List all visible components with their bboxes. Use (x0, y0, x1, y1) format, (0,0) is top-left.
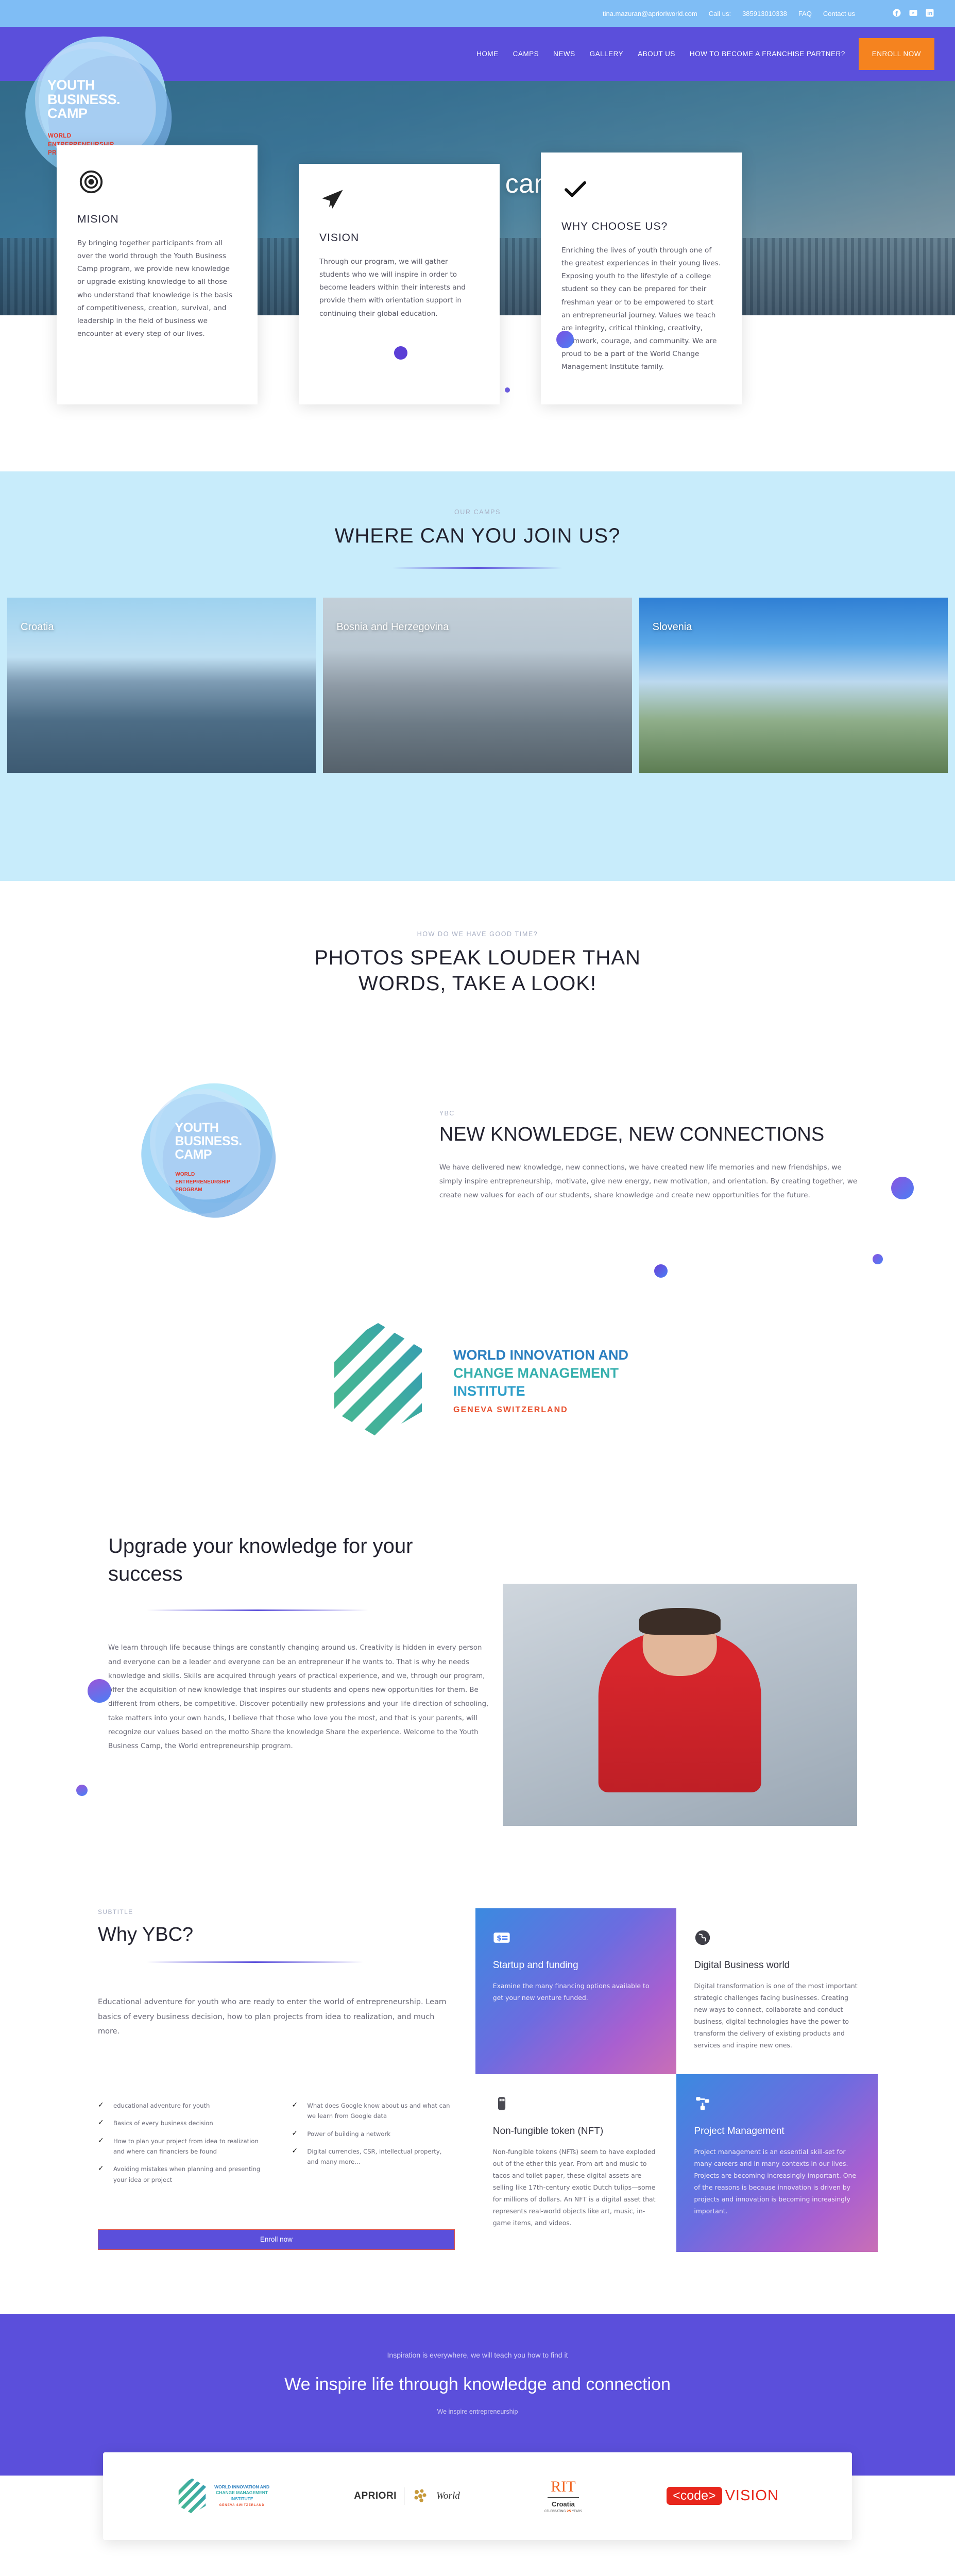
card-text: By bringing together participants from a… (77, 237, 237, 341)
feature-card-nft: Non-fungible token (NFT) Non-fungible to… (475, 2074, 677, 2252)
klogo-line-3: CAMP (175, 1148, 242, 1161)
partner-wicmi-line2: CHANGE MANAGEMENT (216, 2490, 268, 2495)
check-icon: ✓ (98, 2100, 105, 2111)
partner-logo-wicmi: WORLD INNOVATION AND CHANGE MANAGEMENT I… (176, 2478, 269, 2515)
list-item: ✓Basics of every business decision (98, 2118, 261, 2128)
nav-item-franchise[interactable]: HOW TO BECOME A FRANCHISE PARTNER? (690, 50, 845, 58)
check-text: What does Google know about us and what … (307, 2100, 454, 2122)
feature-text: Digital transformation is one of the mos… (694, 1980, 860, 2052)
section-new-knowledge: YOUTH BUSINESS. CAMP WORLD ENTREPRENEURS… (0, 1058, 955, 1290)
logo-line-2: BUSINESS. (47, 93, 120, 107)
enroll-now-button-secondary[interactable]: Enroll now (98, 2229, 455, 2250)
feature-text: Project management is an essential skill… (694, 2146, 860, 2217)
camp-label: Slovenia (653, 621, 692, 633)
svg-text:$: $ (497, 1935, 502, 1943)
knowledge-copy: YBC NEW KNOWLEDGE, NEW CONNECTIONS We ha… (439, 1110, 955, 1202)
partner-wicmi-line3: INSTITUTE (231, 2496, 253, 2501)
money-bill-icon: $ (493, 1929, 659, 1948)
knowledge-title: NEW KNOWLEDGE, NEW CONNECTIONS (439, 1122, 893, 1147)
feature-title: Project Management (694, 2126, 860, 2137)
facebook-icon[interactable] (892, 8, 901, 19)
klogo-sub-1: WORLD (175, 1171, 230, 1178)
institute-logo-icon (327, 1321, 430, 1439)
list-item: ✓Avoiding mistakes when planning and pre… (98, 2164, 261, 2185)
upgrade-text: We learn through life because things are… (108, 1641, 492, 1753)
feature-cards-grid: $ Startup and funding Examine the many f… (475, 1908, 878, 2251)
upgrade-copy: Upgrade your knowledge for your success … (108, 1532, 492, 1753)
decorative-dot-small (505, 387, 510, 393)
camps-grid: Croatia Bosnia and Herzegovina Slovenia (0, 569, 955, 773)
nav-links: HOME CAMPS NEWS GALLERY ABOUT US HOW TO … (476, 50, 845, 58)
klogo-sub-3: PROGRAM (175, 1186, 230, 1194)
nav-item-gallery[interactable]: GALLERY (590, 50, 624, 58)
target-icon (77, 168, 237, 198)
gallery-eyebrow: HOW DO WE HAVE GOOD TIME? (0, 930, 955, 938)
logo-line-1: YOUTH (47, 78, 120, 93)
check-text: educational adventure for youth (113, 2100, 210, 2111)
check-icon: ✓ (292, 2100, 299, 2122)
check-list-right: ✓What does Google know about us and what… (292, 2100, 454, 2192)
klogo-subtitle: WORLD ENTREPRENEURSHIP PROGRAM (175, 1171, 230, 1194)
camp-card-slovenia[interactable]: Slovenia (639, 598, 948, 773)
check-list-left: ✓educational adventure for youth ✓Basics… (98, 2100, 261, 2192)
knowledge-logo-wrap: YOUTH BUSINESS. CAMP WORLD ENTREPRENEURS… (0, 1079, 439, 1233)
camp-card-croatia[interactable]: Croatia (7, 598, 316, 773)
card-text: Through our program, we will gather stud… (319, 256, 479, 320)
decorative-dot-purple (394, 346, 407, 360)
section-inspire: Inspiration is everywhere, we will teach… (0, 2314, 955, 2540)
camps-title: WHERE CAN YOU JOIN US? (0, 523, 955, 549)
section-gallery-heading: HOW DO WE HAVE GOOD TIME? PHOTOS SPEAK L… (0, 881, 955, 1058)
feature-card-startup-funding: $ Startup and funding Examine the many f… (475, 1908, 677, 2074)
check-text: Avoiding mistakes when planning and pres… (113, 2164, 261, 2185)
card-title: WHY CHOOSE US? (561, 221, 721, 233)
paper-plane-icon (319, 187, 479, 216)
card-why-choose-us: WHY CHOOSE US? Enriching the lives of yo… (541, 152, 742, 404)
check-icon: ✓ (98, 2136, 105, 2157)
check-text: How to plan your project from idea to re… (113, 2136, 261, 2157)
partner-wicmi-geneva: GENEVA SWITZERLAND (219, 2504, 265, 2507)
check-text: Power of building a network (307, 2129, 390, 2139)
why-ybc-eyebrow: SUBTITLE (98, 1908, 455, 1916)
camp-label: Croatia (21, 621, 54, 633)
list-item: ✓What does Google know about us and what… (292, 2100, 454, 2122)
check-text: Digital currencies, CSR, intellectual pr… (307, 2146, 454, 2167)
divider-gradient (147, 1961, 363, 1963)
top-phone-link[interactable]: 385913010338 (742, 10, 787, 18)
value-cards-row: MISION By bringing together participants… (0, 145, 955, 404)
check-icon: ✓ (98, 2118, 105, 2128)
section-institute-logo: WORLD INNOVATION AND CHANGE MANAGEMENT I… (0, 1290, 955, 1496)
knowledge-text: We have delivered new knowledge, new con… (439, 1161, 862, 1203)
card-text: Enriching the lives of youth through one… (561, 244, 721, 374)
partner-logo-code-vision: <code> VISION (667, 2487, 779, 2505)
globe-icon (694, 1929, 860, 1948)
feature-text: Non-fungible tokens (NFTs) seem to have … (493, 2146, 659, 2229)
token-icon (493, 2095, 659, 2114)
nav-item-news[interactable]: NEWS (553, 50, 575, 58)
partner-logo-rit-croatia: RIT Croatia CELEBRATING 25 YEARS (544, 2479, 582, 2513)
top-utility-bar: tina.mazuran@aprioriworld.com Call us: 3… (0, 0, 955, 27)
site-footer: YOUTH BUSINESS. CAMP WORLD ENTREPRENEURS… (0, 2540, 955, 2576)
partner-logo-apriori: APRIORI World (354, 2487, 459, 2505)
inspire-tagline: Inspiration is everywhere, we will teach… (0, 2351, 955, 2359)
klogo-line-2: BUSINESS. (175, 1134, 242, 1148)
section-why-ybc: SUBTITLE Why YBC? Educational adventure … (0, 1893, 955, 2313)
check-text: Basics of every business decision (113, 2118, 213, 2128)
section-camps: OUR CAMPS WHERE CAN YOU JOIN US? Croatia… (0, 471, 955, 819)
linkedin-icon[interactable] (925, 8, 934, 19)
nav-item-about-us[interactable]: ABOUT US (638, 50, 675, 58)
institute-location: GENEVA SWITZERLAND (453, 1405, 628, 1415)
ybc-logo-mark: YOUTH BUSINESS. CAMP WORLD ENTREPRENEURS… (134, 1079, 304, 1233)
nav-item-camps[interactable]: CAMPS (513, 50, 539, 58)
logo-line-3: CAMP (47, 107, 120, 121)
check-icon (561, 175, 721, 205)
top-contact-link[interactable]: Contact us (823, 10, 855, 18)
klogo-wordmark: YOUTH BUSINESS. CAMP (175, 1121, 242, 1161)
card-vision: VISION Through our program, we will gath… (299, 164, 500, 404)
network-icon (694, 2095, 860, 2114)
gallery-title-line1: PHOTOS SPEAK LOUDER THAN (0, 945, 955, 971)
camps-eyebrow: OUR CAMPS (0, 509, 955, 516)
knowledge-eyebrow: YBC (439, 1110, 893, 1117)
upgrade-photo (503, 1584, 857, 1826)
decorative-dot-purple (654, 1264, 668, 1278)
check-icon: ✓ (292, 2146, 299, 2167)
top-faq-link[interactable]: FAQ (798, 10, 812, 18)
upgrade-title: Upgrade your knowledge for your success (108, 1532, 492, 1588)
list-item: ✓How to plan your project from idea to r… (98, 2136, 261, 2157)
gallery-title-line2: WORDS, TAKE A LOOK! (0, 971, 955, 996)
inspire-headline: We inspire life through knowledge and co… (0, 2375, 955, 2395)
feature-text: Examine the many financing options avail… (493, 1980, 659, 2004)
feature-card-project-management: Project Management Project management is… (676, 2074, 878, 2252)
why-ybc-check-lists: ✓educational adventure for youth ✓Basics… (98, 2100, 455, 2192)
klogo-sub-2: ENTREPRENEURSHIP (175, 1178, 230, 1186)
camp-label: Bosnia and Herzegovina (336, 621, 449, 633)
why-ybc-title: Why YBC? (98, 1924, 455, 1946)
partner-logos-row: WORLD INNOVATION AND CHANGE MANAGEMENT I… (103, 2452, 852, 2540)
why-ybc-lead: Educational adventure for youth who are … (98, 1995, 455, 2039)
inspire-subtext: We inspire entrepreneurship (0, 2408, 955, 2415)
check-icon: ✓ (98, 2164, 105, 2185)
top-email-link[interactable]: tina.mazuran@aprioriworld.com (603, 10, 697, 18)
feature-title: Digital Business world (694, 1960, 860, 1971)
decorative-dot-gradient (556, 331, 574, 348)
partner-wicmi-line1: WORLD INNOVATION AND (214, 2484, 269, 2489)
logo-wordmark: YOUTH BUSINESS. CAMP (47, 78, 120, 121)
card-title: VISION (319, 232, 479, 244)
decorative-dot-gradient-small (873, 1254, 883, 1264)
card-mission: MISION By bringing together participants… (57, 145, 258, 404)
section-upgrade: Upgrade your knowledge for your success … (0, 1496, 955, 1893)
feature-title: Startup and funding (493, 1960, 659, 1971)
list-item: ✓Power of building a network (292, 2129, 454, 2139)
nav-item-home[interactable]: HOME (476, 50, 499, 58)
youtube-icon[interactable] (909, 8, 918, 19)
klogo-line-1: YOUTH (175, 1121, 242, 1134)
camps-bottom-band (0, 819, 955, 881)
institute-line-1: WORLD INNOVATION AND (453, 1347, 628, 1363)
institute-line-2: CHANGE MANAGEMENT (453, 1365, 619, 1381)
enroll-now-button[interactable]: ENROLL NOW (859, 38, 934, 70)
divider-gradient (147, 1609, 368, 1611)
logo-sub-1: WORLD (48, 132, 114, 141)
feature-card-digital-business: Digital Business world Digital transform… (676, 1908, 878, 2074)
cards-bottom-spacer (0, 404, 955, 471)
institute-logo-text: WORLD INNOVATION AND CHANGE MANAGEMENT I… (453, 1346, 628, 1415)
feature-title: Non-fungible token (NFT) (493, 2126, 659, 2137)
camp-card-bosnia[interactable]: Bosnia and Herzegovina (323, 598, 632, 773)
list-item: ✓Digital currencies, CSR, intellectual p… (292, 2146, 454, 2167)
card-title: MISION (77, 213, 237, 226)
institute-line-3: INSTITUTE (453, 1383, 525, 1399)
list-item: ✓educational adventure for youth (98, 2100, 261, 2111)
call-us-label: Call us: (709, 10, 731, 18)
check-icon: ✓ (292, 2129, 299, 2139)
why-ybc-copy: SUBTITLE Why YBC? Educational adventure … (98, 1908, 455, 2251)
upgrade-media (503, 1584, 857, 1826)
